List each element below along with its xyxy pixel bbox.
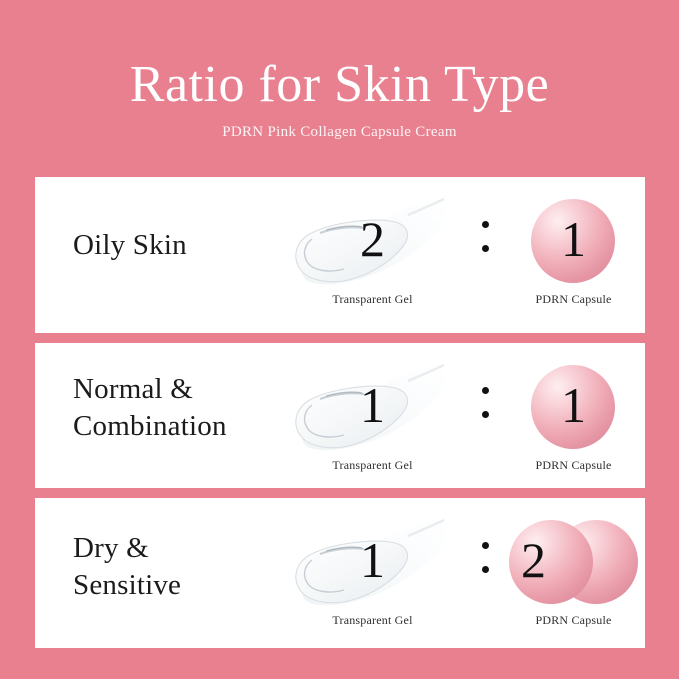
gel-caption: Transparent Gel	[290, 612, 455, 628]
colon-dot-bottom	[482, 245, 489, 252]
gel-caption: Transparent Gel	[290, 457, 455, 473]
skin-type-label: Normal & Combination	[73, 371, 227, 445]
capsule-icon: 1	[502, 361, 645, 453]
infographic-page: Ratio for Skin Type PDRN Pink Collagen C…	[0, 0, 679, 679]
gel-amount-number: 1	[290, 369, 455, 441]
ratio-separator-icon	[476, 387, 496, 433]
gel-amount-number: 2	[290, 203, 455, 275]
ratio-row-oily-skin: Oily Skin	[35, 177, 645, 333]
capsule-caption: PDRN Capsule	[502, 612, 645, 628]
capsule-caption: PDRN Capsule	[502, 457, 645, 473]
ratio-group: 2 Transparent Gel 1 PDRN Capsule	[290, 177, 645, 333]
skin-type-label: Dry & Sensitive	[73, 530, 181, 604]
skin-type-label: Oily Skin	[73, 227, 187, 264]
colon-dot-top	[482, 221, 489, 228]
pdrn-capsule-item: 2 PDRN Capsule	[502, 516, 645, 634]
pdrn-capsule-item: 1 PDRN Capsule	[502, 195, 645, 313]
colon-dot-bottom	[482, 411, 489, 418]
ratio-group: 1 Transparent Gel 1 PDRN Capsule	[290, 343, 645, 488]
gel-amount-number: 1	[290, 524, 455, 596]
ratio-separator-icon	[476, 542, 496, 588]
transparent-gel-item: 1 Transparent Gel	[290, 516, 455, 634]
header: Ratio for Skin Type PDRN Pink Collagen C…	[0, 0, 679, 177]
transparent-gel-item: 2 Transparent Gel	[290, 195, 455, 313]
page-subtitle: PDRN Pink Collagen Capsule Cream	[0, 122, 679, 142]
capsule-icon: 1	[502, 195, 645, 287]
ratio-row-dry-sensitive: Dry & Sensitive	[35, 498, 645, 648]
colon-dot-top	[482, 387, 489, 394]
gel-caption: Transparent Gel	[290, 291, 455, 307]
capsule-amount-number: 1	[502, 201, 645, 277]
capsule-icon: 2	[502, 516, 645, 608]
ratio-row-normal-combination: Normal & Combination	[35, 343, 645, 488]
page-title: Ratio for Skin Type	[0, 56, 679, 114]
capsule-caption: PDRN Capsule	[502, 291, 645, 307]
ratio-separator-icon	[476, 221, 496, 267]
colon-dot-top	[482, 542, 489, 549]
capsule-amount-number: 1	[502, 367, 645, 443]
transparent-gel-item: 1 Transparent Gel	[290, 361, 455, 479]
pdrn-capsule-item: 1 PDRN Capsule	[502, 361, 645, 479]
colon-dot-bottom	[482, 566, 489, 573]
ratio-group: 1 Transparent Gel 2 PDRN Capsule	[290, 498, 645, 648]
